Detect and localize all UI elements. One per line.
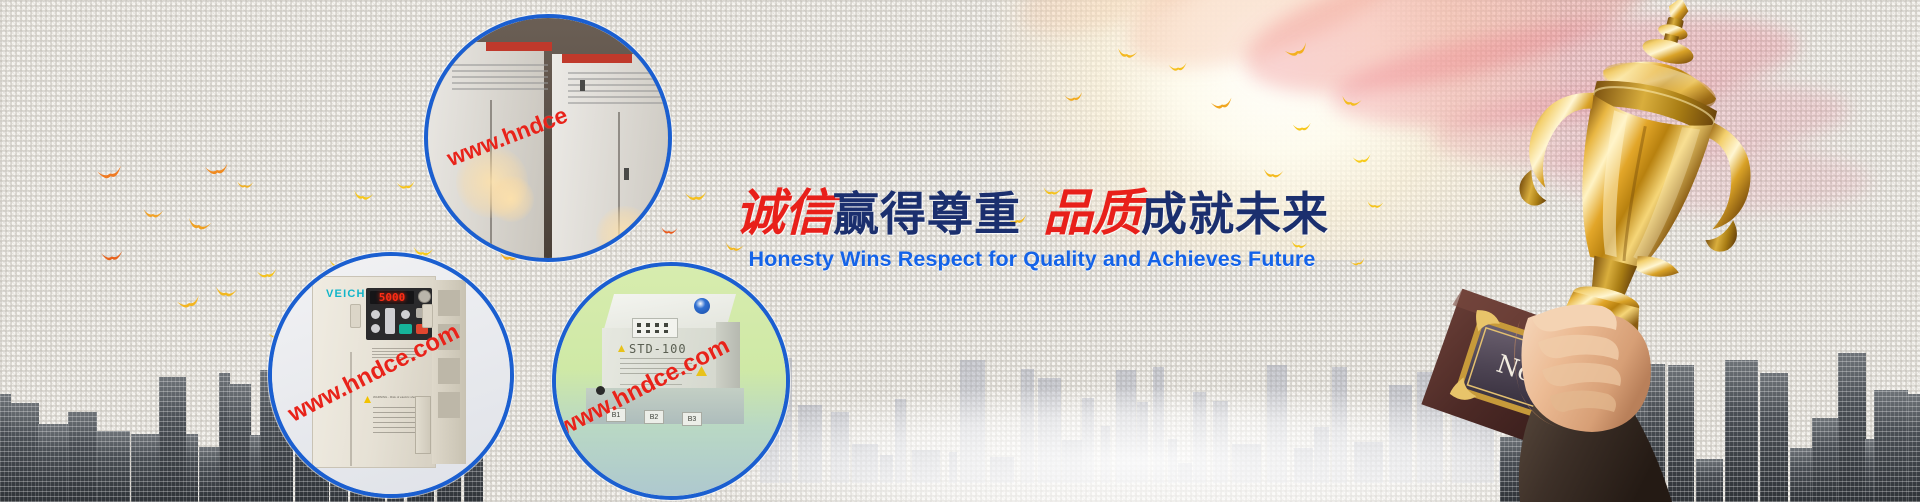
cabinet-right-red-band: [562, 54, 632, 63]
headline-chinese: 诚信赢得尊重品质成就未来: [722, 188, 1342, 238]
headline-block: 诚信赢得尊重品质成就未来 Honesty Wins Respect for Qu…: [722, 188, 1342, 272]
headline-cn-part4: 成就未来: [1141, 187, 1329, 241]
bokeh-light: [488, 176, 534, 222]
headline-english-subtitle: Honesty Wins Respect for Quality and Ach…: [722, 247, 1342, 272]
cabinet-left-vent: [452, 60, 548, 90]
keypad-button[interactable]: [371, 324, 380, 333]
terminal-b3: B3: [682, 412, 702, 426]
cabinet-handle: [624, 168, 629, 180]
cabinet-left-red-band: [486, 42, 552, 51]
product-circle-std100-starter[interactable]: STD-100 B1 B2 B3 www.hndce.com: [552, 262, 790, 500]
keypad-button[interactable]: [371, 310, 380, 319]
headline-cn-part3: 品质: [1043, 184, 1141, 242]
inverter-rating-plate: [415, 396, 431, 454]
keypad-button[interactable]: [401, 310, 410, 319]
headline-cn-part1: 诚信: [735, 184, 833, 242]
std100-connector-panel: [632, 318, 678, 338]
inverter-potentiometer[interactable]: [418, 290, 431, 303]
veichi-brand-label: VEICHI: [326, 288, 370, 300]
promo-banner: www.hndce VEICHI 5000: [0, 0, 1920, 502]
inverter-fin: [438, 290, 460, 316]
inverter-latch: [422, 304, 433, 328]
inverter-fin: [438, 358, 460, 384]
inverter-led-display: 5000: [370, 291, 414, 304]
keypad-shuttle[interactable]: [385, 308, 395, 334]
headline-cn-part2: 赢得尊重: [833, 187, 1021, 241]
cabinet-handle: [580, 80, 585, 91]
inverter-fin: [438, 392, 460, 418]
terminal-b2: B2: [644, 410, 664, 424]
product-circle-veichi-inverter[interactable]: VEICHI 5000 WARNING - Risk of electric s…: [268, 252, 514, 498]
bokeh-light: [596, 206, 654, 258]
inverter-latch: [350, 304, 361, 328]
product-circle-control-cabinets[interactable]: www.hndce: [424, 14, 672, 262]
led-value: 5000: [379, 291, 406, 304]
keypad-run-button[interactable]: [399, 324, 412, 334]
manufacturer-logo: [694, 298, 710, 314]
